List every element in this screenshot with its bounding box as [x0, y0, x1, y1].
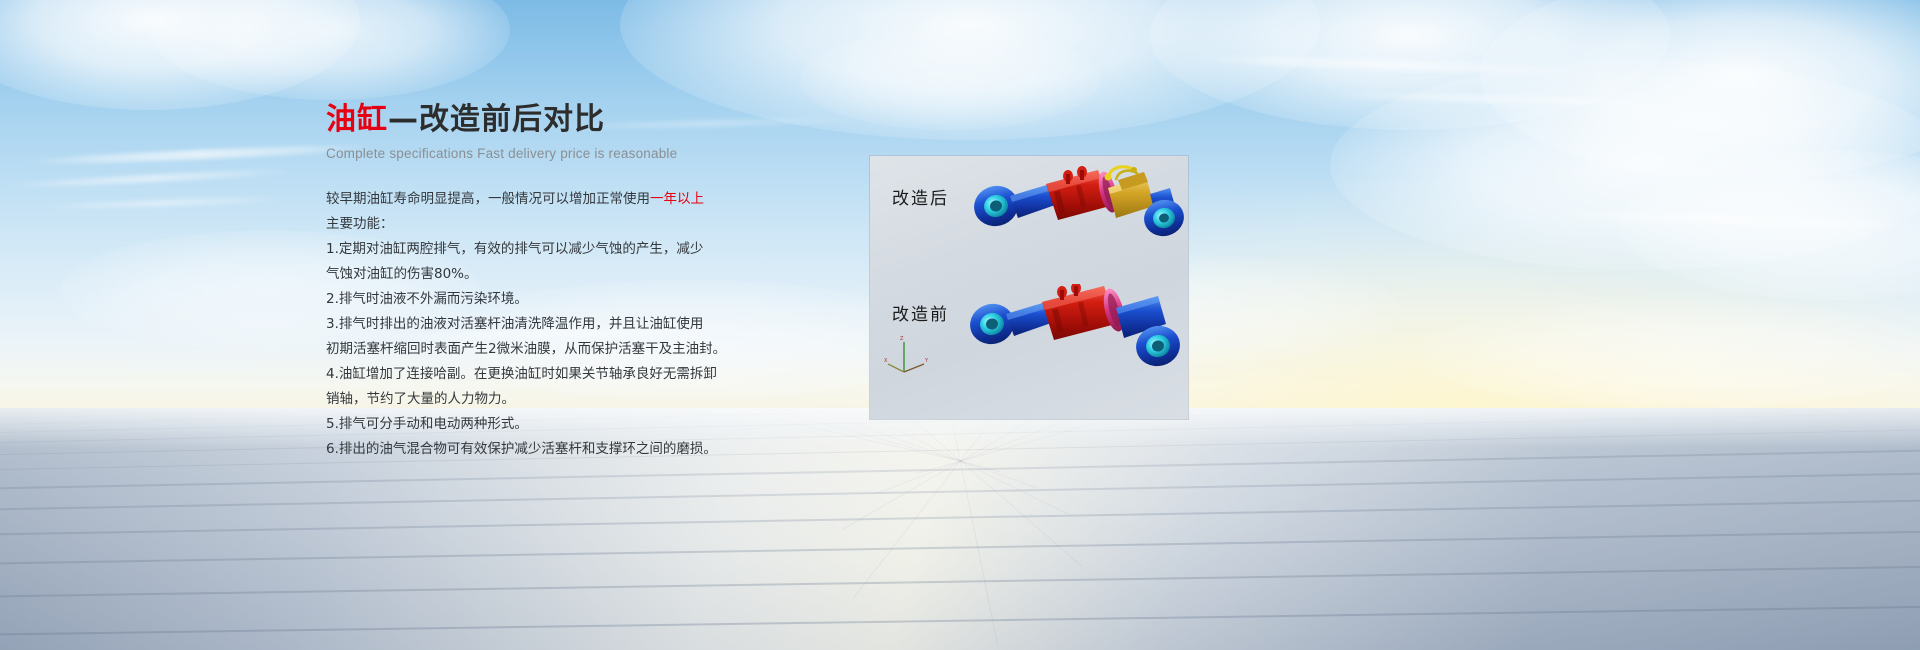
ground-tile-lines	[0, 408, 1920, 650]
svg-text:X: X	[884, 358, 888, 364]
title-highlight: 油缸	[326, 102, 388, 137]
label-before-modification: 改造前	[892, 300, 949, 325]
svg-text:Z: Z	[900, 336, 904, 342]
feature-line: 4.油缸增加了连接哈副。在更换油缸时如果关节轴承良好无需拆卸	[326, 362, 746, 387]
product-comparison-panel: 改造后 改造前 Z X Y	[870, 156, 1188, 419]
title-rest: —改造前后对比	[388, 102, 605, 137]
ground-vignette	[0, 408, 1920, 650]
feature-line: 销轴，节约了大量的人力物力。	[326, 387, 746, 412]
label-after-modification: 改造后	[892, 184, 949, 209]
cylinder-before-modification-illustration	[958, 284, 1184, 412]
ground-highlight	[0, 408, 1920, 650]
feature-line: 5.排气可分手动和电动两种形式。	[326, 412, 746, 437]
feature-line: 6.排出的油气混合物可有效保护减少活塞杆和支撑环之间的磨损。	[326, 437, 746, 462]
banner-copy: 油缸—改造前后对比 Complete specifications Fast d…	[326, 103, 886, 462]
feature-line: 初期活塞杆缩回时表面产生2微米油膜，从而保护活塞干及主油封。	[326, 337, 746, 362]
intro-highlight: 一年以上	[650, 191, 704, 207]
feature-line: 2.排气时油液不外漏而污染环境。	[326, 287, 746, 312]
intro-line: 较早期油缸寿命明显提高，一般情况可以增加正常使用一年以上	[326, 187, 746, 212]
svg-text:Y: Y	[924, 358, 929, 364]
ground-plane	[0, 408, 1920, 650]
intro-prefix: 较早期油缸寿命明显提高，一般情况可以增加正常使用	[326, 191, 650, 207]
feature-list: 较早期油缸寿命明显提高，一般情况可以增加正常使用一年以上 主要功能： 1.定期对…	[326, 187, 746, 462]
page-subtitle: Complete specifications Fast delivery pr…	[326, 146, 886, 161]
axis-gizmo-icon: Z X Y	[884, 334, 932, 378]
feature-line: 1.定期对油缸两腔排气，有效的排气可以减少气蚀的产生，减少	[326, 237, 746, 262]
feature-line: 气蚀对油缸的伤害80%。	[326, 262, 746, 287]
features-heading: 主要功能：	[326, 212, 746, 237]
hero-banner: 油缸—改造前后对比 Complete specifications Fast d…	[0, 0, 1920, 650]
page-title: 油缸—改造前后对比	[326, 103, 886, 138]
feature-line: 3.排气时排出的油液对活塞杆油清洗降温作用，并且让油缸使用	[326, 312, 746, 337]
cylinder-after-modification-illustration	[958, 162, 1184, 280]
